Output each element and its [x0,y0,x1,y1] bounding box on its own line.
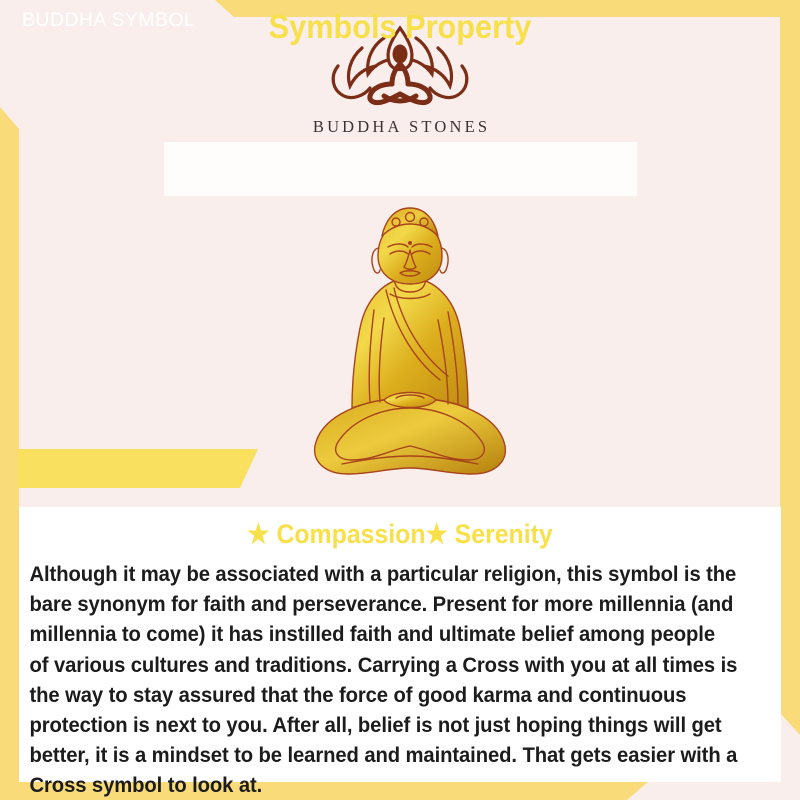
poster-page: BUDDHA STONES Symbols Property [0,0,800,800]
title-panel [164,142,637,196]
content-paragraph: Although it may be associated with a par… [19,550,747,800]
section-ribbon [18,449,258,488]
section-ribbon-label: BUDDHA SYMBOL [22,0,195,39]
decor-frame-left [0,107,19,800]
seated-golden-buddha-illustration [290,202,530,490]
brand-name: BUDDHA STONES [0,117,800,137]
content-card: ★ Compassion★ Serenity Although it may b… [19,507,781,782]
content-headline: ★ Compassion★ Serenity [49,507,750,550]
